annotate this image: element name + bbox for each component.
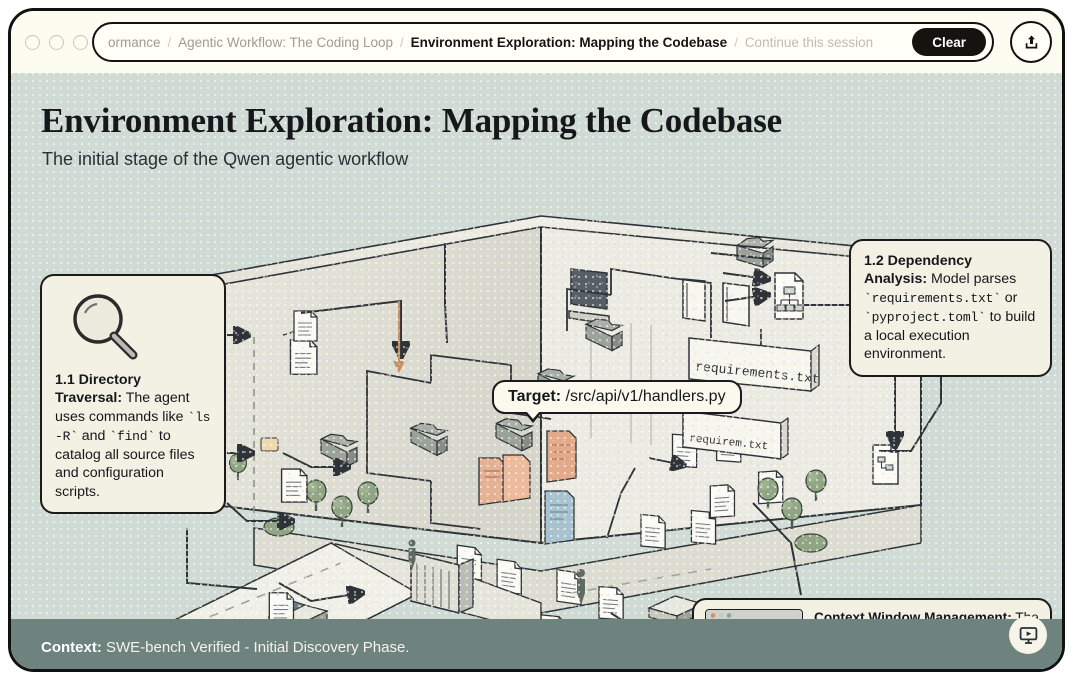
minimize-icon[interactable]	[49, 35, 64, 50]
status-bar-text: Context: SWE-bench Verified - Initial Di…	[41, 639, 409, 656]
target-tooltip-path: /src/api/v1/handlers.py	[566, 388, 726, 405]
present-play-icon	[1019, 626, 1038, 645]
callout-directory-traversal: 1.1 Directory Traversal: The agent uses …	[40, 274, 226, 514]
maximize-icon[interactable]	[73, 35, 88, 50]
callout-dependency-body-b: or	[1001, 290, 1018, 306]
slide-canvas: requirements.txt requirem.txt	[11, 73, 1062, 672]
breadcrumb-separator: /	[400, 35, 404, 50]
breadcrumb-item-2[interactable]: Environment Exploration: Mapping the Cod…	[411, 35, 728, 50]
traffic-lights	[25, 35, 88, 50]
target-tooltip: Target: /src/api/v1/handlers.py	[492, 380, 742, 414]
callout-directory-title: 1.1 Directory	[55, 372, 141, 388]
share-button[interactable]	[1010, 21, 1052, 63]
page-title: Environment Exploration: Mapping the Cod…	[41, 101, 782, 141]
callout-dependency-body-a: Model parses	[927, 271, 1016, 287]
callout-dependency-text: 1.2 Dependency Analysis: Model parses `r…	[864, 252, 1037, 364]
target-tooltip-label: Target:	[508, 388, 561, 405]
breadcrumb-separator: /	[168, 35, 172, 50]
callout-dependency-analysis: 1.2 Dependency Analysis: Model parses `r…	[849, 239, 1052, 377]
clear-button[interactable]: Clear	[912, 28, 986, 56]
breadcrumb-item-3[interactable]: Continue this session	[745, 35, 873, 50]
breadcrumb-item-0[interactable]: ormance	[108, 35, 161, 50]
callout-directory-code-b: `find`	[109, 429, 155, 444]
callout-dependency-code-b: `pyproject.toml`	[864, 310, 986, 325]
page-subtitle: The initial stage of the Qwen agentic wo…	[42, 149, 408, 170]
close-icon[interactable]	[25, 35, 40, 50]
callout-dependency-code-a: `requirements.txt`	[864, 291, 1001, 306]
status-bar-label: Context:	[41, 639, 102, 656]
status-bar: Context: SWE-bench Verified - Initial Di…	[11, 619, 1062, 672]
magnifier-icon	[67, 291, 141, 361]
breadcrumb-item-1[interactable]: Agentic Workflow: The Coding Loop	[178, 35, 393, 50]
status-bar-value: SWE-bench Verified - Initial Discovery P…	[102, 639, 410, 656]
callout-directory-text: 1.1 Directory Traversal: The agent uses …	[55, 371, 211, 501]
callout-directory-title2: Traversal:	[55, 390, 122, 406]
callout-directory-body-b: and	[78, 428, 110, 444]
breadcrumb: ormance / Agentic Workflow: The Coding L…	[108, 35, 912, 50]
title-bar: ormance / Agentic Workflow: The Coding L…	[11, 11, 1062, 73]
app-window: ormance / Agentic Workflow: The Coding L…	[8, 8, 1065, 672]
share-icon	[1024, 34, 1039, 50]
present-button[interactable]	[1009, 616, 1047, 654]
breadcrumb-bar[interactable]: ormance / Agentic Workflow: The Coding L…	[92, 22, 994, 62]
breadcrumb-separator: /	[734, 35, 738, 50]
